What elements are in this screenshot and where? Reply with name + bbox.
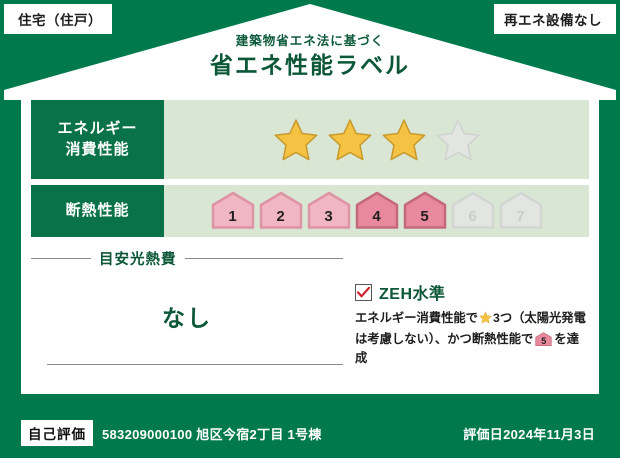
insulation-grade-number: 7 [499, 208, 543, 225]
lower-section: 目安光熱費 なし ZEH水準 [31, 244, 589, 389]
utility-cost-rule-bottom [47, 364, 343, 365]
insulation-grade-badge: 7 [499, 191, 543, 229]
zeh-header: ZEH水準 [355, 280, 589, 304]
main-body-panel: エネルギー 消費性能 断熱性能 1234567 [21, 92, 599, 394]
zeh-description-part1: エネルギー消費性能で [355, 311, 478, 325]
insulation-performance-value: 1234567 [164, 185, 589, 237]
energy-performance-label-line1: エネルギー [57, 119, 137, 139]
star-icon-filled [380, 117, 428, 163]
star-icon-filled [326, 117, 374, 163]
zeh-checkbox[interactable] [355, 284, 372, 301]
tab-building-type-label: 住宅（住戸） [18, 9, 102, 29]
footer-id-address: 583209000100 旭区今宿2丁目 1号棟 [102, 424, 322, 443]
footer-address: 旭区今宿2丁目 1号棟 [196, 427, 321, 442]
insulation-grade-number: 1 [211, 208, 255, 225]
insulation-grade-number: 2 [259, 208, 303, 225]
zeh-title: ZEH水準 [379, 280, 446, 304]
insulation-performance-label: 断熱性能 [65, 201, 129, 221]
utility-cost-rule-right [185, 258, 344, 259]
insulation-grade-badge: 2 [259, 191, 303, 229]
insulation-grade-number: 3 [307, 208, 351, 225]
utility-cost-header: 目安光熱費 [31, 244, 343, 269]
grade-badge-inline-number: 5 [535, 337, 552, 346]
zeh-description: エネルギー消費性能で 3つ（太陽光発電は考慮しない）、かつ断熱性能で 5を達成 [355, 309, 589, 368]
utility-cost-value: なし [31, 299, 343, 333]
tab-renewable-status-label: 再エネ設備なし [504, 9, 602, 29]
card-inner: 住宅（住戸） 再エネ設備なし 建築物省エネ法に基づく 省エネ性能ラベル エネルギ… [4, 4, 616, 454]
insulation-grade-badge: 6 [451, 191, 495, 229]
zeh-block: ZEH水準 エネルギー消費性能で 3つ（太陽光発電は考慮しない）、かつ断熱性能で… [343, 244, 589, 389]
insulation-grade-badge: 1 [211, 191, 255, 229]
star-icon-empty [434, 117, 482, 163]
insulation-grade-number: 5 [403, 208, 447, 225]
title-subtitle: 建築物省エネ法に基づく [4, 34, 616, 49]
star-rating [272, 117, 482, 163]
star-icon-inline [479, 311, 492, 330]
energy-performance-value [164, 100, 589, 179]
energy-performance-key: エネルギー 消費性能 [31, 100, 164, 179]
insulation-performance-key: 断熱性能 [31, 185, 164, 237]
footer-evaluation-date: 評価日2024年11月3日 [463, 424, 599, 443]
utility-cost-title: 目安光熱費 [99, 248, 177, 269]
footer-bar: 自己評価 583209000100 旭区今宿2丁目 1号棟 評価日2024年11… [21, 420, 599, 446]
insulation-performance-row: 断熱性能 1234567 [31, 185, 589, 237]
insulation-grade-scale: 1234567 [211, 191, 543, 231]
insulation-grade-badge: 3 [307, 191, 351, 229]
insulation-grade-badge: 4 [355, 191, 399, 229]
footer-id: 583209000100 [102, 427, 192, 442]
star-icon-filled [272, 117, 320, 163]
utility-cost-rule-left [31, 258, 91, 259]
utility-cost-block: 目安光熱費 なし [31, 244, 343, 389]
evaluation-type-badge: 自己評価 [21, 420, 93, 446]
check-icon [357, 287, 370, 298]
insulation-grade-number: 4 [355, 208, 399, 225]
energy-performance-label-card: 住宅（住戸） 再エネ設備なし 建築物省エネ法に基づく 省エネ性能ラベル エネルギ… [0, 0, 620, 458]
title-main: 省エネ性能ラベル [4, 51, 616, 80]
energy-performance-row: エネルギー 消費性能 [31, 92, 589, 179]
tab-building-type: 住宅（住戸） [4, 4, 112, 34]
tab-renewable-status: 再エネ設備なし [494, 4, 616, 34]
insulation-grade-badge: 5 [403, 191, 447, 229]
energy-performance-label-line2: 消費性能 [65, 140, 129, 160]
insulation-grade-number: 6 [451, 208, 495, 225]
label-title-block: 建築物省エネ法に基づく 省エネ性能ラベル [4, 34, 616, 80]
grade-badge-icon-inline: 5 [535, 332, 552, 346]
